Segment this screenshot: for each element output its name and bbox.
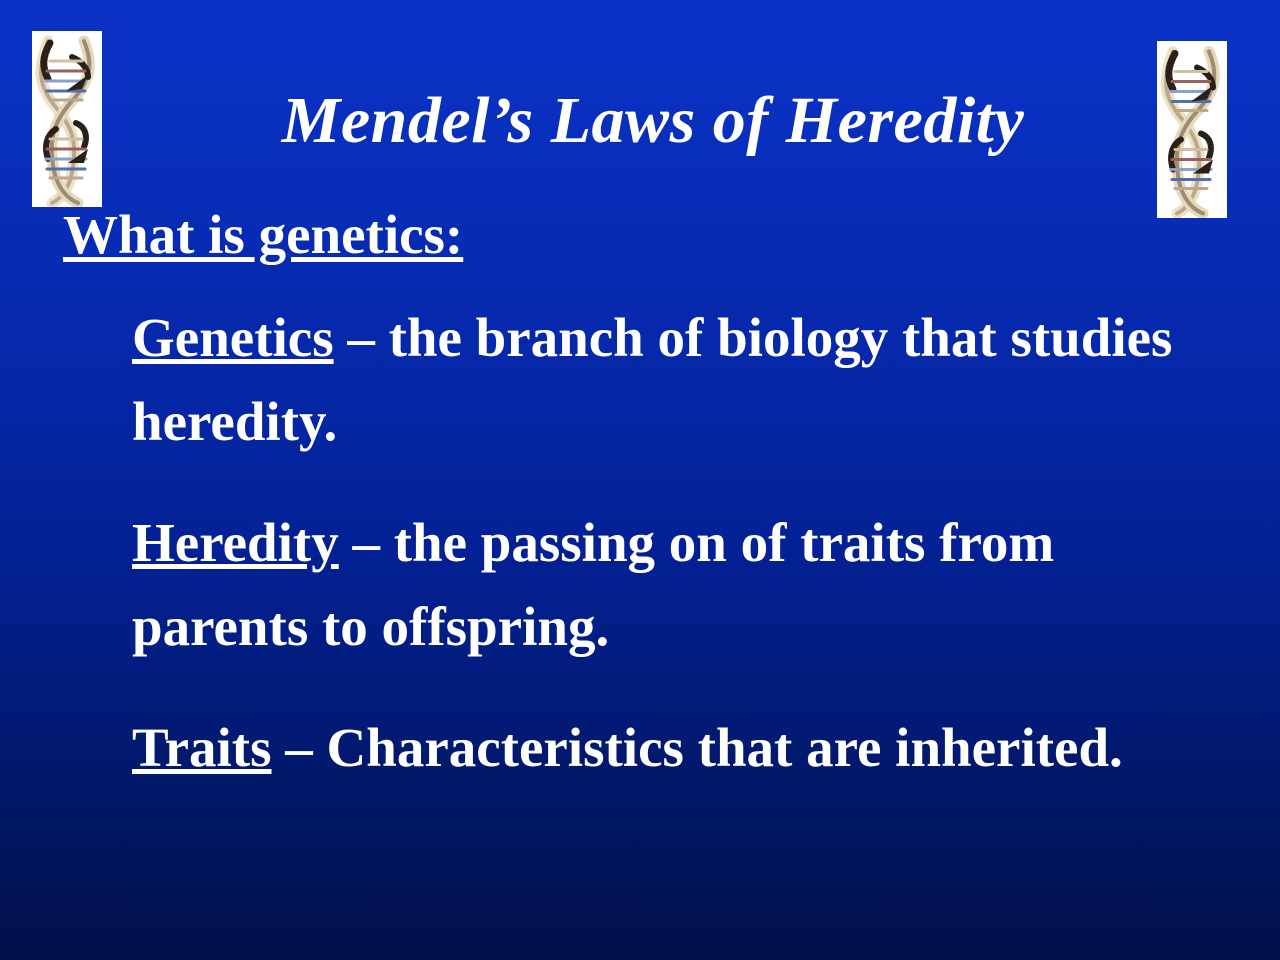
slide-title: Mendel’s Laws of Heredity (0, 88, 1280, 154)
definition-term: Traits (132, 717, 272, 778)
section-heading: What is genetics: (63, 206, 463, 263)
slide-canvas: Mendel’s Laws of Heredity What is geneti… (0, 0, 1280, 960)
definition-term: Heredity (132, 512, 339, 573)
section-heading-label: What is genetics: (63, 204, 463, 265)
definition-list: Genetics – the branch of biology that st… (132, 296, 1192, 790)
definition-dash: – (334, 307, 389, 368)
definition-term: Genetics (132, 307, 334, 368)
definition-text: Characteristics that are inherited. (327, 717, 1123, 778)
definition-dash: – (272, 717, 327, 778)
definition-dash: – (339, 512, 394, 573)
definition-item: Genetics – the branch of biology that st… (132, 296, 1192, 463)
definition-item: Heredity – the passing on of traits from… (132, 501, 1192, 668)
definition-item: Traits – Characteristics that are inheri… (132, 706, 1192, 790)
